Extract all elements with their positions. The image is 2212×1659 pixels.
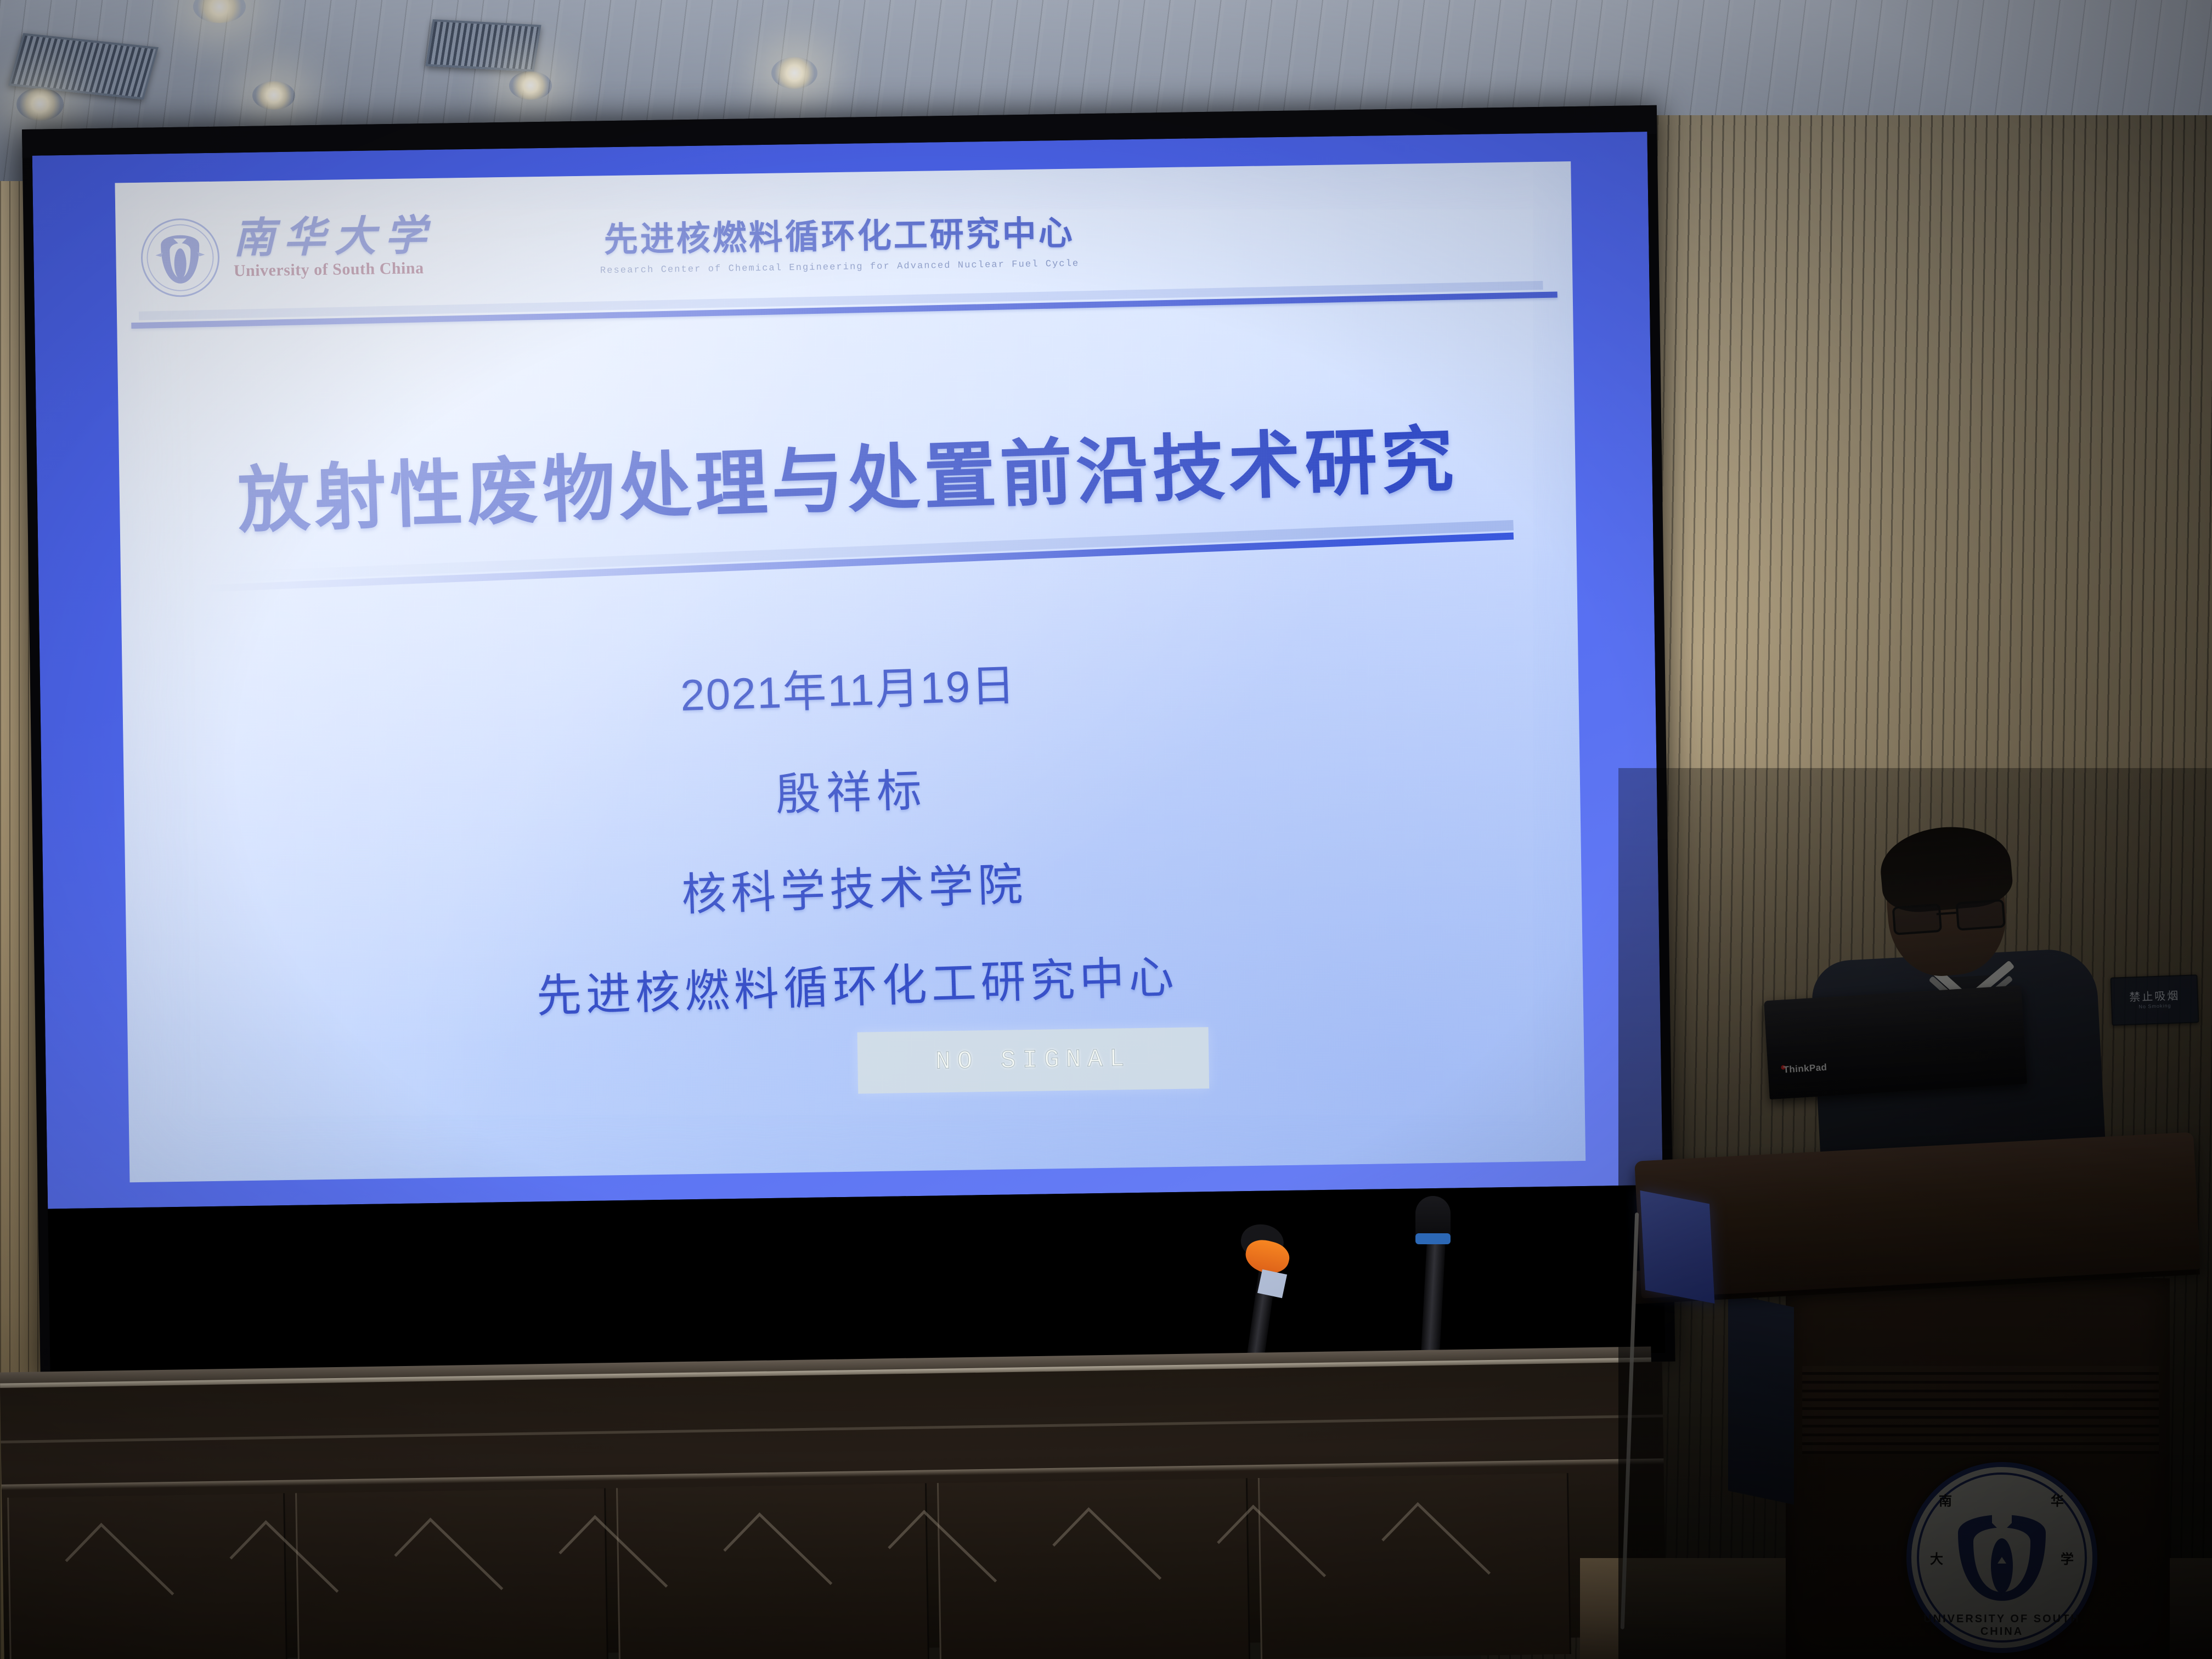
university-brand: 南华大学 University of South China [138, 213, 436, 300]
laptop-brand-label: ThinkPad [1783, 1062, 1827, 1076]
seal-char-4: 学 [2061, 1548, 2074, 1567]
research-center-block: 先进核燃料循环化工研究中心 Research Center of Chemica… [600, 215, 1080, 276]
university-name-en: University of South China [234, 259, 436, 280]
microphone-band-blue [1415, 1233, 1451, 1244]
wood-paneling [0, 1362, 1666, 1659]
seal-char-3: 大 [1930, 1548, 1943, 1567]
seal-char-1: 南 [1939, 1490, 1952, 1509]
podium: 南 华 大 学 UNIVERSITY OF SOUTH CHINA [1621, 1147, 2212, 1659]
air-vent-center [425, 19, 541, 72]
projection-screen: 南华大学 University of South China 先进核燃料循环化工… [22, 105, 1675, 1386]
podium-side-panel [1728, 1293, 1794, 1505]
ceiling-downlight-3 [252, 81, 295, 110]
slide-body: 2021年11月19日 殷祥标 核科学技术学院 先进核燃料循环化工研究中心 [120, 633, 1585, 1037]
presenter-name: 殷祥标 [122, 733, 1579, 843]
wall-sign-en: No Smoking [2138, 1003, 2171, 1009]
screen-surface: 南华大学 University of South China 先进核燃料循环化工… [32, 132, 1666, 1376]
no-signal-text: NO SIGNAL [935, 1045, 1131, 1076]
podium-university-seal: 南 华 大 学 UNIVERSITY OF SOUTH CHINA [1906, 1462, 2097, 1653]
glasses-lens [1955, 899, 2005, 931]
glasses-lens [1892, 904, 1942, 935]
presentation-slide: 南华大学 University of South China 先进核燃料循环化工… [115, 161, 1585, 1182]
laptop[interactable]: ThinkPad [1764, 985, 2027, 1099]
seal-char-2: 华 [2051, 1490, 2064, 1509]
wall-sign-cn: 禁止吸烟 [2129, 990, 2180, 1003]
ceiling-downlight-2 [16, 88, 64, 121]
affiliation-center: 先进核燃料循环化工研究中心 [128, 928, 1585, 1037]
research-center-en: Research Center of Chemical Engineering … [600, 258, 1080, 276]
university-name-cn: 南华大学 [233, 216, 435, 259]
podium-cable [1621, 1212, 1639, 1629]
presentation-date: 2021年11月19日 [120, 633, 1577, 741]
panel-ledge-upper [1, 1414, 1663, 1443]
university-brand-text: 南华大学 University of South China [233, 213, 436, 281]
research-center-cn: 先进核燃料循环化工研究中心 [600, 215, 1079, 259]
seal-emblem-icon [1948, 1499, 2056, 1606]
ceiling-downlight-4 [509, 71, 552, 100]
podium-slat-detail [1802, 1366, 2159, 1454]
podium-desktop [1634, 1132, 2200, 1298]
microphone-band-white [1257, 1269, 1287, 1299]
wall-sign: 禁止吸烟 No Smoking [2111, 974, 2199, 1025]
ceiling-downlight-5 [771, 57, 817, 89]
university-crest-icon [138, 216, 222, 300]
lecture-hall-scene: 禁止吸烟 No Smoking [0, 0, 2212, 1659]
podium-control-panel[interactable] [1640, 1190, 1715, 1304]
seal-text-en: UNIVERSITY OF SOUTH CHINA [1911, 1613, 2092, 1638]
no-signal-osd: NO SIGNAL [857, 1027, 1210, 1093]
affiliation-school: 核科学技术学院 [126, 831, 1583, 940]
